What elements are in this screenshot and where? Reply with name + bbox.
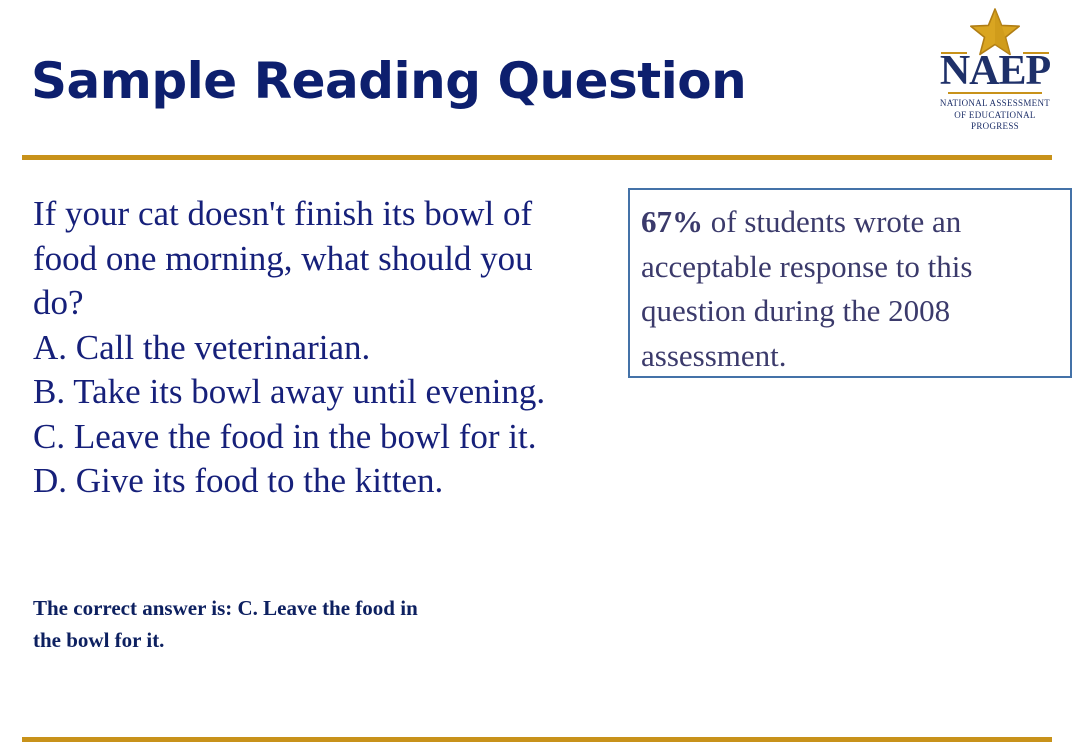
statistic-text: 67% of students wrote an acceptable resp…	[641, 200, 1062, 378]
choice-option-a[interactable]: A. Call the veterinarian.	[33, 326, 603, 371]
statistic-percent: 67%	[641, 204, 703, 239]
naep-wordmark: NAEP	[935, 50, 1055, 92]
question-block: If your cat doesn't finish its bowl of f…	[33, 192, 603, 504]
footer-divider-rule	[22, 737, 1052, 742]
question-stem-line-2: food one morning, what should you	[33, 237, 603, 282]
question-stem-line-1: If your cat doesn't finish its bowl of	[33, 192, 603, 237]
naep-tagline-line-2: OF EDUCATIONAL	[935, 110, 1055, 122]
correct-answer-line-2: the bowl for it.	[33, 624, 563, 656]
slide-canvas: Sample Reading Question NAEP NATIONAL AS…	[0, 0, 1074, 754]
naep-tagline-line-1: NATIONAL ASSESSMENT	[935, 98, 1055, 110]
choice-option-d[interactable]: D. Give its food to the kitten.	[33, 459, 603, 504]
header-divider-rule	[22, 155, 1052, 160]
correct-answer-note: The correct answer is: C. Leave the food…	[33, 592, 563, 656]
question-stem-line-3: do?	[33, 281, 603, 326]
naep-tagline: NATIONAL ASSESSMENT OF EDUCATIONAL PROGR…	[935, 98, 1055, 133]
choice-option-c[interactable]: C. Leave the food in the bowl for it.	[33, 415, 603, 460]
page-title: Sample Reading Question	[31, 52, 891, 110]
logo-underline-rule	[948, 92, 1042, 94]
choice-list: A. Call the veterinarian. B. Take its bo…	[33, 326, 603, 504]
choice-option-b[interactable]: B. Take its bowl away until evening.	[33, 370, 603, 415]
naep-tagline-line-3: PROGRESS	[935, 121, 1055, 133]
naep-logo: NAEP NATIONAL ASSESSMENT OF EDUCATIONAL …	[935, 8, 1055, 133]
correct-answer-line-1: The correct answer is: C. Leave the food…	[33, 592, 563, 624]
question-stem: If your cat doesn't finish its bowl of f…	[33, 192, 603, 326]
statistic-callout-box: 67% of students wrote an acceptable resp…	[628, 188, 1072, 378]
